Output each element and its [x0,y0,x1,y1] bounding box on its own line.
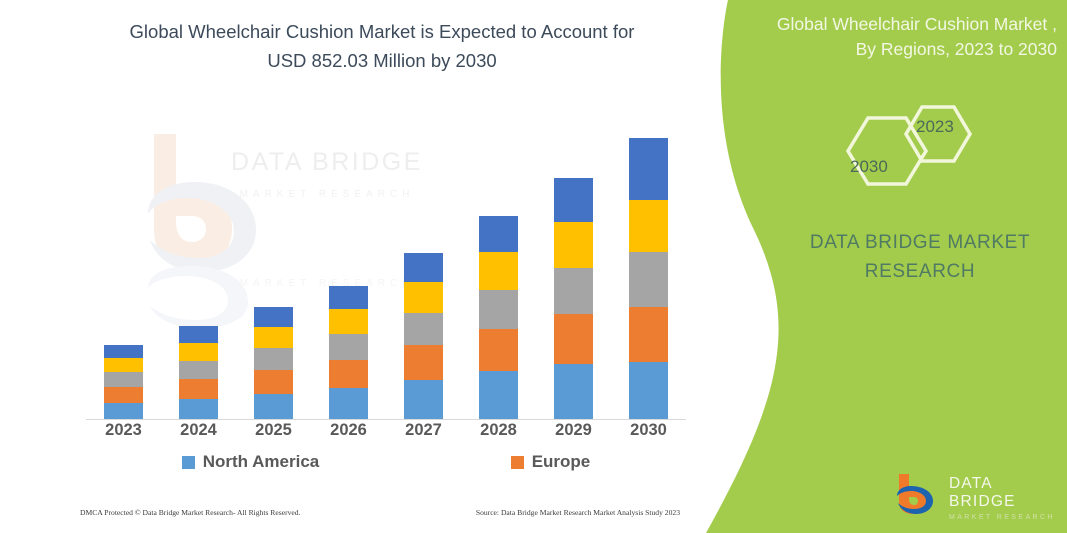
bar-segment[interactable] [629,252,668,307]
chart-legend: North AmericaEurope [86,452,686,482]
bar-column [88,100,160,419]
x-tick-2029: 2029 [538,421,610,440]
panel-brand-line-1: DATA BRIDGE MARKET [790,228,1050,257]
bar-segment[interactable] [479,216,518,252]
bar-segment[interactable] [254,327,293,348]
bar-segment[interactable] [554,314,593,364]
bar-segment[interactable] [629,138,668,200]
infographic-canvas: Global Wheelchair Cushion Market , By Re… [0,0,1067,533]
bar-segment[interactable] [554,178,593,222]
page-title-line-2: USD 852.03 Million by 2030 [86,47,678,76]
x-tick-2025: 2025 [238,421,310,440]
bar-segment[interactable] [554,364,593,419]
bar-segment[interactable] [254,307,293,327]
bar-segment[interactable] [179,343,218,361]
stacked-bar-2030[interactable] [629,138,668,419]
bar-segment[interactable] [179,379,218,399]
bar-group [86,100,686,419]
hexagon-group: 2023 2030 [818,96,1018,206]
x-tick-2027: 2027 [388,421,460,440]
legend-item-north-america[interactable]: North America [182,452,320,472]
panel-brand-line-2: RESEARCH [790,257,1050,286]
bar-column [463,100,535,419]
bar-segment[interactable] [179,361,218,379]
legend-swatch [182,456,195,469]
bar-segment[interactable] [329,388,368,419]
data-bridge-logo: DATA BRIDGE MARKET RESEARCH [893,472,1061,518]
legend-item-europe[interactable]: Europe [511,452,591,472]
bar-segment[interactable] [329,360,368,388]
logo-word-secondary: MARKET RESEARCH [949,514,1061,521]
x-axis-line [86,419,686,420]
bar-column [538,100,610,419]
bar-segment[interactable] [629,362,668,419]
x-tick-2026: 2026 [313,421,385,440]
legend-label: North America [203,452,320,472]
bar-segment[interactable] [179,326,218,343]
bar-segment[interactable] [404,282,443,313]
panel-brand-text: DATA BRIDGE MARKET RESEARCH [790,228,1050,287]
bar-segment[interactable] [479,371,518,419]
bar-segment[interactable] [254,348,293,370]
x-tick-2028: 2028 [463,421,535,440]
legend-swatch [511,456,524,469]
page-title-line-1: Global Wheelchair Cushion Market is Expe… [86,18,678,47]
footer-copyright: DMCA Protected © Data Bridge Market Rese… [80,508,300,517]
stacked-bar-2027[interactable] [404,253,443,419]
bar-segment[interactable] [329,334,368,360]
page-title: Global Wheelchair Cushion Market is Expe… [86,18,678,75]
bar-segment[interactable] [629,307,668,362]
bar-segment[interactable] [104,387,143,403]
panel-heading: Global Wheelchair Cushion Market , By Re… [745,12,1057,63]
bar-column [238,100,310,419]
stacked-bar-2029[interactable] [554,178,593,419]
panel-heading-line-2: By Regions, 2023 to 2030 [745,37,1057,62]
x-tick-2023: 2023 [88,421,160,440]
stacked-bar-2025[interactable] [254,307,293,419]
bar-segment[interactable] [329,286,368,309]
bar-segment[interactable] [104,372,143,387]
footer-source: Source: Data Bridge Market Research Mark… [476,508,680,517]
panel-heading-line-1: Global Wheelchair Cushion Market , [745,12,1057,37]
bar-segment[interactable] [404,345,443,380]
logo-word-primary: DATA BRIDGE [949,475,1061,511]
bar-segment[interactable] [404,313,443,345]
bar-segment[interactable] [479,329,518,371]
bar-column [163,100,235,419]
bar-segment[interactable] [179,399,218,419]
bar-segment[interactable] [329,309,368,334]
bar-segment[interactable] [104,345,143,358]
bar-segment[interactable] [554,222,593,268]
x-axis-tick-labels: 20232024202520262027202820292030 [86,421,686,440]
bar-segment[interactable] [104,403,143,419]
data-bridge-logo-mark [893,472,945,521]
x-tick-2030: 2030 [613,421,685,440]
hexagon-label-2023: 2023 [916,117,954,137]
bar-column [388,100,460,419]
stacked-bar-2023[interactable] [104,345,143,419]
bar-segment[interactable] [404,380,443,419]
stacked-bar-2028[interactable] [479,216,518,419]
bar-segment[interactable] [254,370,293,394]
footer: DMCA Protected © Data Bridge Market Rese… [80,508,680,517]
bar-segment[interactable] [404,253,443,282]
stacked-bar-2024[interactable] [179,326,218,419]
x-tick-2024: 2024 [163,421,235,440]
bar-segment[interactable] [479,290,518,329]
legend-label: Europe [532,452,591,472]
data-bridge-logo-words: DATA BRIDGE MARKET RESEARCH [949,475,1061,521]
bar-segment[interactable] [629,200,668,252]
bar-column [613,100,685,419]
stacked-bar-2026[interactable] [329,286,368,419]
bar-segment[interactable] [554,268,593,314]
hexagon-label-2030: 2030 [850,157,888,177]
chart-plot-area: 20232024202520262027202820292030 [86,100,686,420]
bar-column [313,100,385,419]
bar-segment[interactable] [254,394,293,419]
bar-segment[interactable] [104,358,143,372]
bar-segment[interactable] [479,252,518,290]
